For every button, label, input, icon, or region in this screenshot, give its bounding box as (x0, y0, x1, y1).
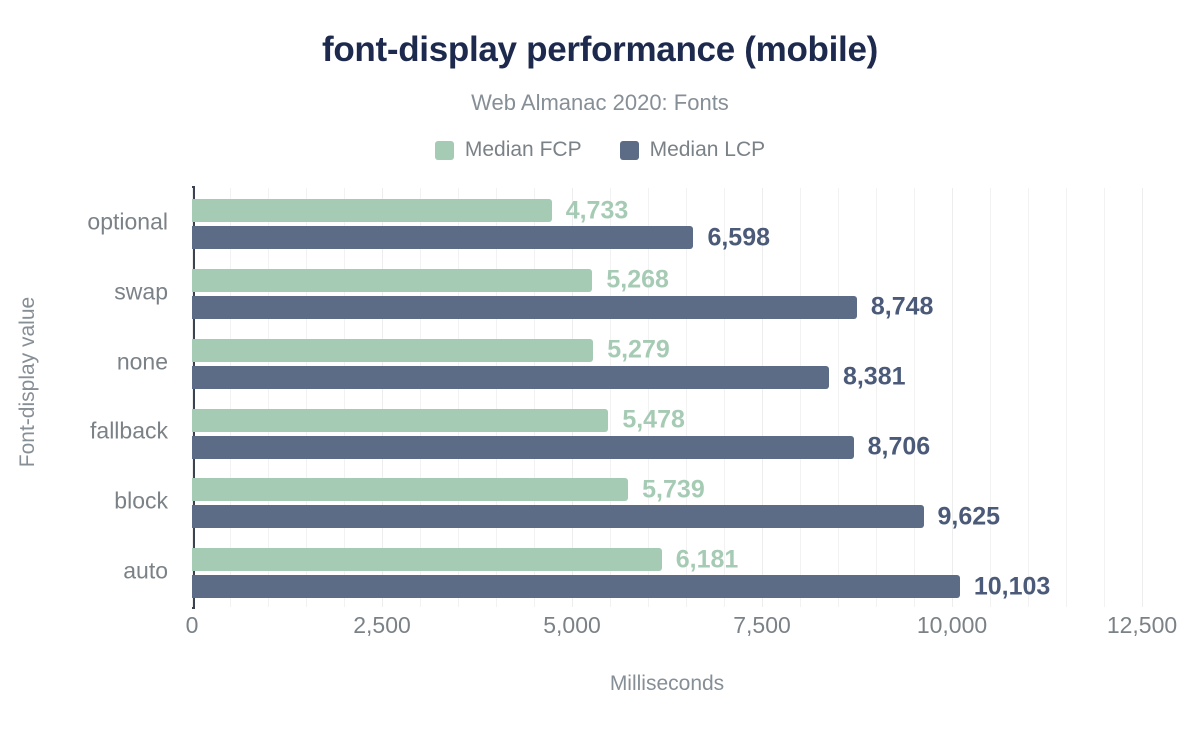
legend-item-median-lcp[interactable]: Median LCP (620, 138, 766, 162)
x-axis-title: Milliseconds (192, 672, 1142, 696)
bar-rows: 4,7336,5985,2688,7485,2798,3815,4788,706… (192, 188, 1142, 607)
bar-lcp-optional[interactable] (192, 226, 693, 249)
bar-fcp-none[interactable] (192, 339, 593, 362)
chart-container: font-display performance (mobile) Web Al… (0, 0, 1200, 742)
bar-lcp-swap[interactable] (192, 296, 857, 319)
bar-lcp-block[interactable] (192, 505, 924, 528)
bar-group: 4,7336,598 (192, 188, 1142, 258)
bar-value-label-fcp-fallback: 5,478 (622, 406, 685, 435)
chart-legend: Median FCP Median LCP (0, 138, 1200, 162)
category-label-fallback: fallback (90, 418, 168, 445)
bar-fcp-block[interactable] (192, 478, 628, 501)
x-tick-label: 7,500 (733, 612, 791, 639)
category-label-block: block (114, 488, 168, 515)
legend-swatch-median-lcp (620, 141, 639, 160)
bar-group: 6,18110,103 (192, 537, 1142, 607)
x-tick-label: 2,500 (353, 612, 411, 639)
y-axis-title: Font-display value (16, 272, 40, 492)
bar-fcp-optional[interactable] (192, 199, 552, 222)
bar-value-label-lcp-fallback: 8,706 (868, 433, 931, 462)
legend-swatch-median-fcp (435, 141, 454, 160)
gridline (1142, 188, 1143, 607)
bar-value-label-fcp-optional: 4,733 (566, 196, 629, 225)
bar-group: 5,2688,748 (192, 258, 1142, 328)
chart-title: font-display performance (mobile) (0, 30, 1200, 70)
chart-subtitle: Web Almanac 2020: Fonts (0, 90, 1200, 116)
x-axis-tick-labels: 02,5005,0007,50010,00012,500 (192, 612, 1142, 646)
plot-area: 4,7336,5985,2688,7485,2798,3815,4788,706… (192, 188, 1142, 607)
bar-value-label-fcp-block: 5,739 (642, 475, 705, 504)
bar-group: 5,4788,706 (192, 398, 1142, 468)
bar-fcp-fallback[interactable] (192, 409, 608, 432)
bar-lcp-none[interactable] (192, 366, 829, 389)
bar-group: 5,7399,625 (192, 467, 1142, 537)
category-label-optional: optional (87, 208, 168, 235)
bar-value-label-lcp-optional: 6,598 (707, 223, 770, 252)
bar-value-label-lcp-none: 8,381 (843, 363, 906, 392)
category-label-swap: swap (114, 278, 168, 305)
legend-label-median-fcp: Median FCP (465, 138, 582, 162)
bar-lcp-auto[interactable] (192, 575, 960, 598)
category-label-auto: auto (123, 558, 168, 585)
bar-value-label-fcp-auto: 6,181 (676, 545, 739, 574)
x-tick-label: 12,500 (1107, 612, 1177, 639)
x-tick-label: 5,000 (543, 612, 601, 639)
bar-value-label-lcp-auto: 10,103 (974, 572, 1050, 601)
bar-value-label-lcp-block: 9,625 (938, 502, 1001, 531)
legend-label-median-lcp: Median LCP (650, 138, 766, 162)
bar-fcp-auto[interactable] (192, 548, 662, 571)
bar-fcp-swap[interactable] (192, 269, 592, 292)
bar-value-label-lcp-swap: 8,748 (871, 293, 934, 322)
legend-item-median-fcp[interactable]: Median FCP (435, 138, 582, 162)
bar-value-label-fcp-swap: 5,268 (606, 266, 669, 295)
bar-value-label-fcp-none: 5,279 (607, 336, 670, 365)
x-tick-label: 10,000 (917, 612, 987, 639)
category-label-none: none (117, 348, 168, 375)
bar-lcp-fallback[interactable] (192, 436, 854, 459)
bar-group: 5,2798,381 (192, 328, 1142, 398)
x-tick-label: 0 (186, 612, 199, 639)
